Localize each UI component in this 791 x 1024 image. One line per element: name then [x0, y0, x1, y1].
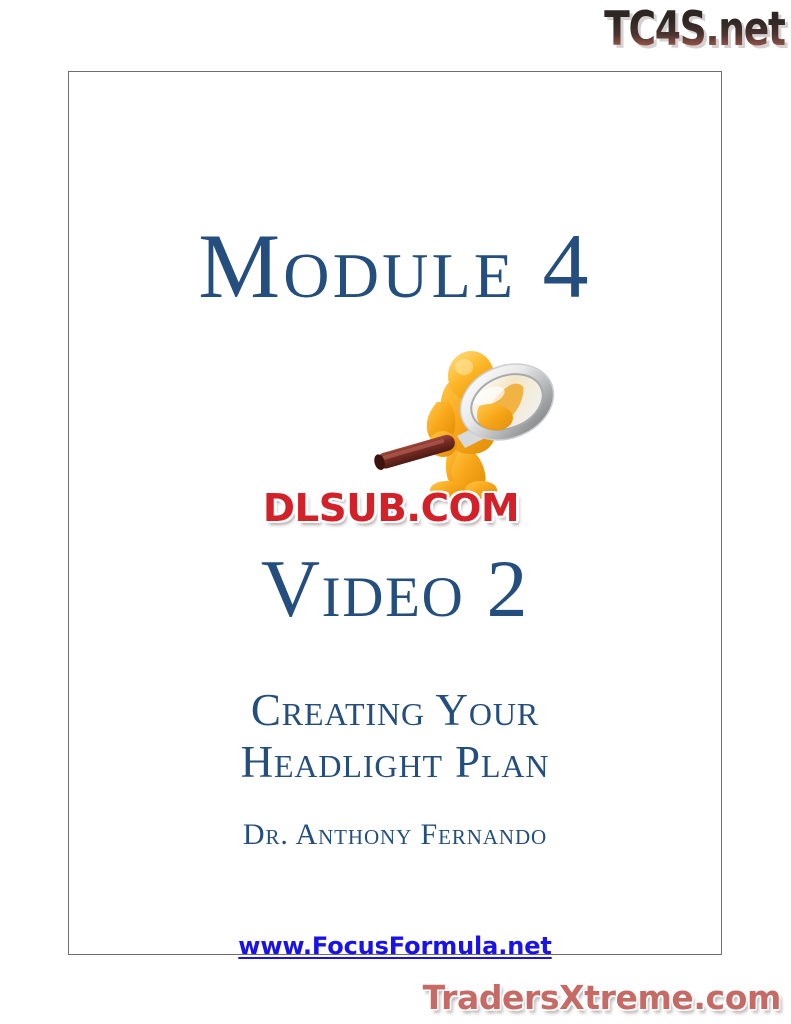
website-link-row: www.FocusFormula.net: [69, 932, 721, 960]
watermark-tc4s: TC4S.net TC4S.net: [559, 4, 785, 56]
page-title-video: Video 2: [69, 548, 721, 630]
page-title-module: Module 4: [69, 220, 721, 312]
subtitle-line-1: Creating Your: [69, 688, 721, 733]
page-border-frame: Module 4: [68, 71, 722, 955]
watermark-tradersxtreme-text: TradersXtreme.com: [423, 978, 781, 1018]
watermark-tradersxtreme: TradersXtreme.com: [423, 978, 781, 1018]
author-name: Dr. Anthony Fernando: [69, 820, 721, 850]
watermark-tc4s-text: TC4S.net: [605, 4, 785, 56]
subtitle-line-2: Headlight Plan: [69, 740, 721, 785]
document-cover-page: { "page": { "background_color": "#ffffff…: [0, 0, 791, 1024]
magnifying-glass-figure-icon: [365, 340, 565, 512]
video-title-block: Video 2: [69, 542, 721, 652]
website-link[interactable]: www.FocusFormula.net: [238, 932, 551, 960]
